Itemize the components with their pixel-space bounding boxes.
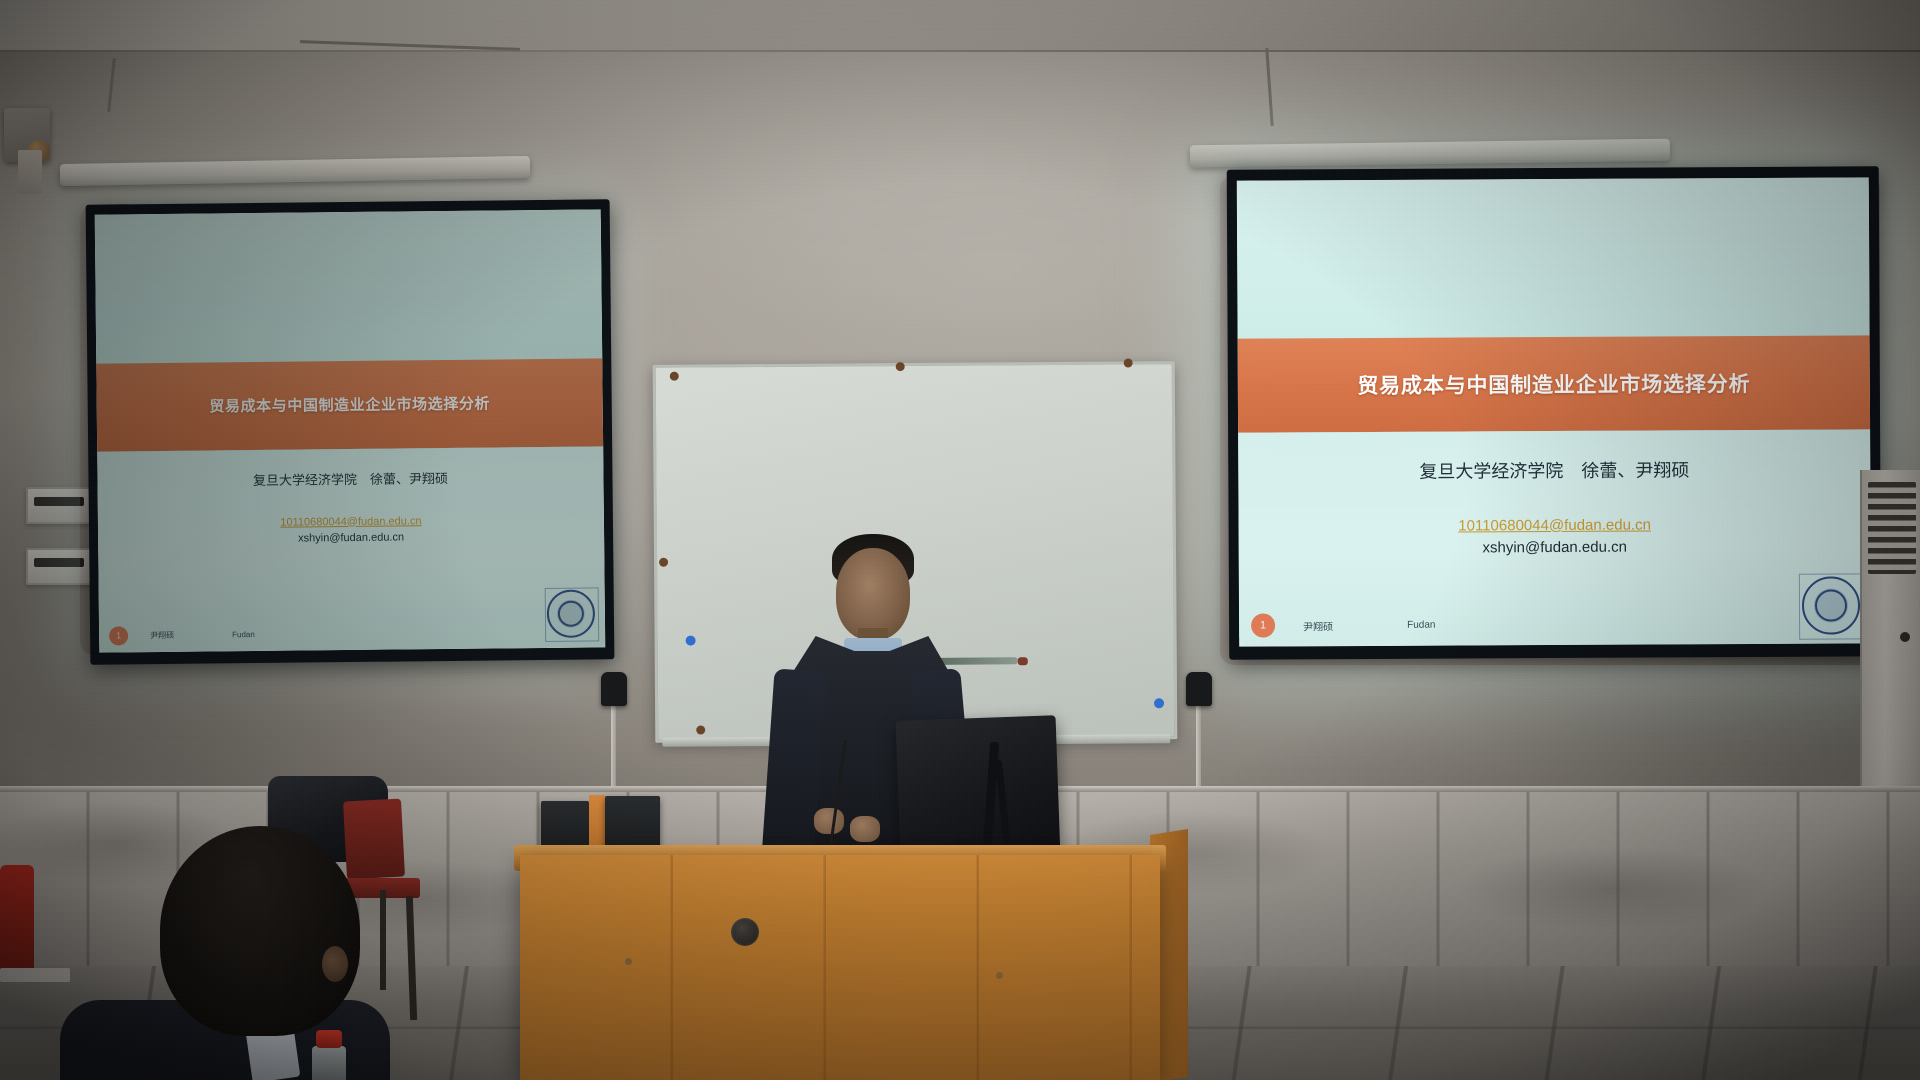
right-projection-screen: 贸易成本与中国制造业企业市场选择分析 复旦大学经济学院 徐蕾、尹翔硕 10110… xyxy=(1227,166,1882,659)
slide-title: 贸易成本与中国制造业企业市场选择分析 xyxy=(209,393,490,417)
magnet-brown[interactable] xyxy=(659,558,668,567)
lecture-hall-photo: 贸易成本与中国制造业企业市场选择分析 复旦大学经济学院 徐蕾、尹翔硕 10110… xyxy=(0,0,1920,1080)
podium-wood-grain xyxy=(520,855,1160,1080)
left-wall-speaker xyxy=(601,672,627,706)
right-wall-speaker xyxy=(1186,672,1212,706)
podium-lock-icon[interactable] xyxy=(731,918,759,946)
slide-footer: 1 尹翔硕 Fudan xyxy=(1239,601,1871,646)
slide-title-band: 贸易成本与中国制造业企业市场选择分析 xyxy=(1238,336,1870,432)
podium-screw xyxy=(625,958,632,965)
podium-screw xyxy=(996,972,1003,979)
presenter-right-hand xyxy=(850,816,880,842)
slide-top-band xyxy=(95,209,603,363)
seal-inner xyxy=(1815,589,1847,621)
left-projection-screen: 贸易成本与中国制造业企业市场选择分析 复旦大学经济学院 徐蕾、尹翔硕 10110… xyxy=(86,199,615,664)
slide-footer-org: Fudan xyxy=(232,630,255,639)
fire-extinguisher-base xyxy=(0,968,70,982)
magnet-brown[interactable] xyxy=(696,725,705,734)
presenter-left-hand xyxy=(814,808,844,834)
magnet-blue[interactable] xyxy=(1154,698,1164,708)
wall-panel-upper xyxy=(26,487,92,524)
fire-extinguisher xyxy=(0,865,34,973)
magnet-brown[interactable] xyxy=(896,362,905,371)
right-slide: 贸易成本与中国制造业企业市场选择分析 复旦大学经济学院 徐蕾、尹翔硕 10110… xyxy=(1237,177,1871,646)
slide-footer-author: 尹翔硕 xyxy=(150,629,174,640)
slide-footer: 1 尹翔硕 Fudan xyxy=(99,613,605,652)
water-bottle-body[interactable] xyxy=(312,1046,346,1080)
slide-email-plain: xshyin@fudan.edu.cn xyxy=(1482,538,1627,556)
slide-email-plain: xshyin@fudan.edu.cn xyxy=(298,531,404,544)
seal-inner xyxy=(557,600,584,627)
audience-member-ear xyxy=(322,946,348,982)
slide-email-link[interactable]: 10110680044@fudan.edu.cn xyxy=(1458,516,1651,534)
fudan-seal-icon xyxy=(1802,576,1860,634)
slide-title-band: 贸易成本与中国制造业企业市场选择分析 xyxy=(96,358,603,451)
slide-subtitle: 复旦大学经济学院 徐蕾、尹翔硕 xyxy=(1419,456,1689,483)
ac-vent-top xyxy=(1868,482,1916,574)
wall-panel-lower xyxy=(26,548,92,585)
slide-footer-org: Fudan xyxy=(1407,619,1435,630)
chair-leg-rear xyxy=(380,890,386,990)
slide-footer-author: 尹翔硕 xyxy=(1303,618,1333,633)
ac-knob-icon[interactable] xyxy=(1900,632,1910,642)
slide-title: 贸易成本与中国制造业企业市场选择分析 xyxy=(1357,368,1750,400)
magnet-brown[interactable] xyxy=(1124,358,1133,367)
slide-body: 复旦大学经济学院 徐蕾、尹翔硕 10110680044@fudan.edu.cn… xyxy=(97,446,605,653)
slide-subtitle: 复旦大学经济学院 徐蕾、尹翔硕 xyxy=(253,467,448,488)
slide-body: 复旦大学经济学院 徐蕾、尹翔硕 10110680044@fudan.edu.cn… xyxy=(1238,429,1871,647)
audience-member-head xyxy=(160,826,360,1036)
presenter-head xyxy=(836,548,910,640)
slide-top-band xyxy=(1237,177,1870,339)
right-speaker-pole xyxy=(1196,690,1201,800)
slide-page-number: 1 xyxy=(109,626,128,645)
slide-page-number: 1 xyxy=(1251,613,1275,637)
marker-cap[interactable] xyxy=(1018,657,1028,665)
slide-email-link[interactable]: 10110680044@fudan.edu.cn xyxy=(280,515,421,528)
left-slide: 贸易成本与中国制造业企业市场选择分析 复旦大学经济学院 徐蕾、尹翔硕 10110… xyxy=(95,209,606,652)
magnet-brown[interactable] xyxy=(670,372,679,381)
chair-backrest xyxy=(343,799,405,880)
fudan-seal-icon xyxy=(547,589,596,638)
panel-slot xyxy=(34,558,84,567)
magnet-blue[interactable] xyxy=(686,636,696,646)
water-bottle-cap[interactable] xyxy=(316,1030,342,1048)
panel-slot xyxy=(34,497,84,506)
fixture-tag xyxy=(18,150,42,194)
